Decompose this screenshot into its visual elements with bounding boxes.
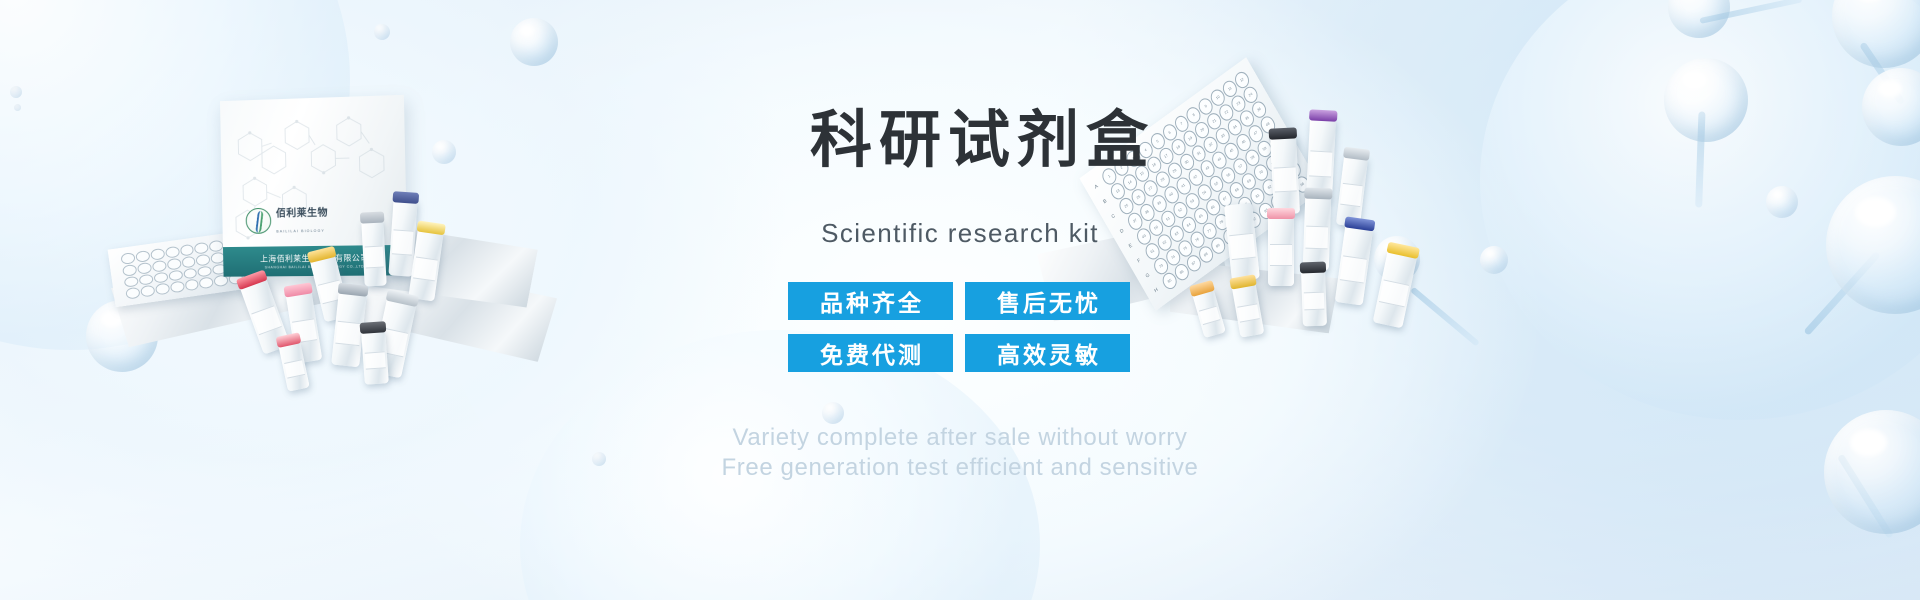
brand-name-en: BAILILAI BIOLOGY xyxy=(276,229,325,234)
molecule-bond-icon xyxy=(1803,251,1880,336)
bubble-decoration xyxy=(374,24,390,40)
dna-helix-icon xyxy=(245,208,271,234)
bubble-decoration xyxy=(1826,176,1920,314)
bubble-decoration xyxy=(1832,0,1920,68)
bubble-decoration xyxy=(510,18,558,66)
feature-badge-group: 品种齐全 售后无忧 免费代测 高效灵敏 xyxy=(788,282,1130,386)
banner-title: 科研试剂盒 xyxy=(810,108,1155,173)
reagent-vial xyxy=(361,219,386,286)
tagline-line-1: Variety complete after sale without worr… xyxy=(560,423,1360,453)
background-blob-right xyxy=(1480,0,1920,420)
bubble-decoration xyxy=(1824,410,1920,534)
kit-brand-logo: 佰利莱生物 BAILILAI BIOLOGY xyxy=(245,204,328,237)
bubble-decoration xyxy=(10,86,22,98)
feature-badge-row: 免费代测 高效灵敏 xyxy=(788,334,1130,372)
reagent-vial xyxy=(1373,250,1418,329)
banner-subtitle: Scientific research kit xyxy=(668,218,1252,249)
left-product-photo: 佰利莱生物 BAILILAI BIOLOGY 上海佰利莱生物科技有限公司 SHA… xyxy=(95,80,565,390)
bubble-decoration xyxy=(1664,58,1748,142)
feature-badge-row: 品种齐全 售后无忧 xyxy=(788,282,1130,320)
feature-badge-variety[interactable]: 品种齐全 xyxy=(788,282,953,320)
molecule-bond-icon xyxy=(1837,454,1894,539)
feature-badge-aftersale[interactable]: 售后无忧 xyxy=(965,282,1130,320)
brand-name-cn: 佰利莱生物 xyxy=(276,208,328,220)
bubble-decoration xyxy=(14,104,21,111)
banner-text-block: 科研试剂盒 Scientific research kit 品种齐全 售后无忧 … xyxy=(560,0,1360,600)
hero-banner: 佰利莱生物 BAILILAI BIOLOGY 上海佰利莱生物科技有限公司 SHA… xyxy=(0,0,1920,600)
molecule-bond-icon xyxy=(1699,0,1802,24)
banner-tagline: Variety complete after sale without worr… xyxy=(560,423,1360,483)
reagent-vial xyxy=(361,329,389,385)
feature-badge-free-test[interactable]: 免费代测 xyxy=(788,334,953,372)
bubble-decoration xyxy=(1668,0,1730,38)
bubble-decoration xyxy=(1480,246,1508,274)
molecule-bond-icon xyxy=(1859,42,1905,106)
bubble-decoration xyxy=(1766,186,1798,218)
bubble-decoration xyxy=(1862,68,1920,146)
feature-badge-sensitive[interactable]: 高效灵敏 xyxy=(965,334,1130,372)
tagline-line-2: Free generation test efficient and sensi… xyxy=(560,453,1360,483)
molecule-bond-icon xyxy=(1695,111,1705,207)
